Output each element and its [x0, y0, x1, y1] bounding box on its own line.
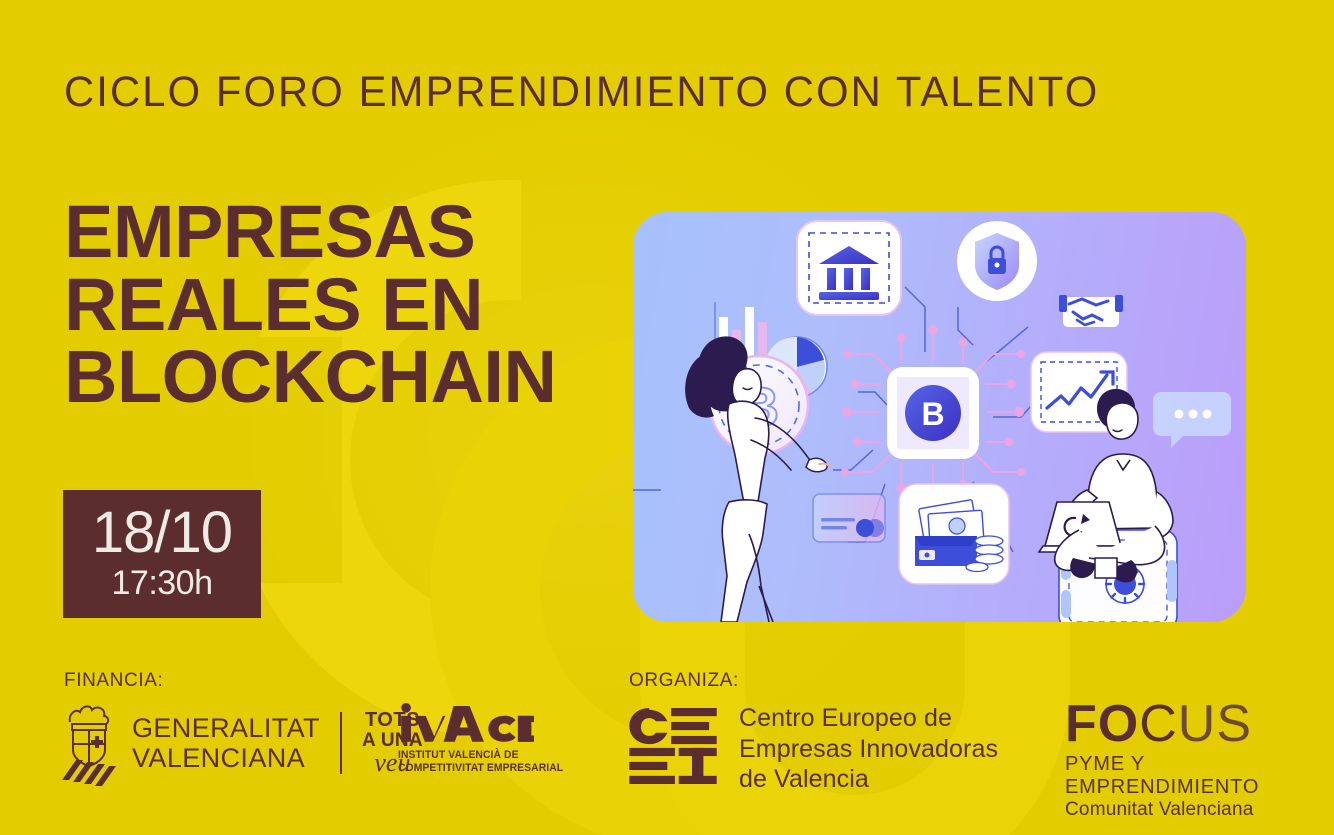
- generalitat-line-2: VALENCIANA: [132, 743, 320, 773]
- shield-lock-icon: [957, 221, 1037, 301]
- event-date: 18/10: [92, 504, 232, 562]
- svg-text:B: B: [921, 396, 944, 432]
- headline-line-3: BLOCKCHAIN: [64, 341, 624, 414]
- generalitat-line-1: GENERALITAT: [132, 713, 320, 743]
- generalitat-name: GENERALITAT VALENCIANA: [132, 713, 320, 773]
- ceei-name: Centro Europeo de Empresas Innovadoras d…: [739, 703, 998, 795]
- focus-pyme-logo: FOCUS PYME Y EMPRENDIMIENTO Comunitat Va…: [1065, 700, 1334, 821]
- headline-line-2: REALES EN: [64, 269, 624, 342]
- ceei-mark-icon: [629, 708, 717, 789]
- chat-bubble-icon: [1153, 392, 1231, 448]
- focus-thin-part: US: [1178, 695, 1252, 753]
- headline-line-1: EMPRESAS: [64, 196, 624, 269]
- credit-card-icon: [813, 494, 885, 542]
- logo-divider: [340, 712, 342, 774]
- handshake-icon: [1059, 295, 1123, 327]
- organiza-label: ORGANIZA:: [629, 670, 739, 692]
- ceei-logo: Centro Europeo de Empresas Innovadoras d…: [629, 703, 998, 795]
- event-time: 17:30h: [112, 562, 213, 605]
- wallet-cash-icon: [899, 484, 1009, 584]
- poster-canvas: CICLO FORO EMPRENDIMIENTO CON TALENTO EM…: [0, 0, 1334, 835]
- ivace-logo: INSTITUT VALENCIÀ DE COMPETITIVITAT EMPR…: [398, 702, 574, 775]
- ceei-name-line-1: Centro Europeo de: [739, 703, 998, 734]
- generalitat-valenciana-logo: GENERALITAT VALENCIANA TOTS A UNA veu: [60, 700, 423, 786]
- focus-subtitle-2: Comunitat Valenciana: [1065, 799, 1334, 821]
- page-title: EMPRESAS REALES EN BLOCKCHAIN: [64, 196, 624, 414]
- ivace-wordmark-icon: [398, 702, 574, 746]
- focus-bold-part: FO: [1065, 695, 1139, 753]
- financia-label: FINANCIA:: [64, 670, 163, 692]
- ivace-sub-line-1: INSTITUT VALENCIÀ DE: [398, 749, 563, 762]
- date-badge: 18/10 17:30h: [63, 490, 261, 618]
- generalitat-crest-icon: [60, 700, 118, 786]
- ivace-sub-line-2: COMPETITIVITAT EMPRESARIAL: [398, 762, 563, 775]
- focus-wordmark: FOCUS: [1065, 700, 1334, 749]
- ceei-name-line-2: Empresas Innovadoras: [739, 734, 998, 765]
- focus-medium-part: C: [1139, 695, 1178, 753]
- bitcoin-chip-icon: B: [887, 367, 979, 459]
- blockchain-illustration: B: [633, 212, 1246, 622]
- bank-icon: [797, 221, 901, 315]
- focus-subtitle-1: PYME Y EMPRENDIMIENTO: [1065, 753, 1334, 799]
- ivace-subtitle: INSTITUT VALENCIÀ DE COMPETITIVITAT EMPR…: [398, 749, 563, 775]
- ceei-name-line-3: de Valencia: [739, 764, 998, 795]
- event-series-kicker: CICLO FORO EMPRENDIMIENTO CON TALENTO: [64, 68, 1099, 117]
